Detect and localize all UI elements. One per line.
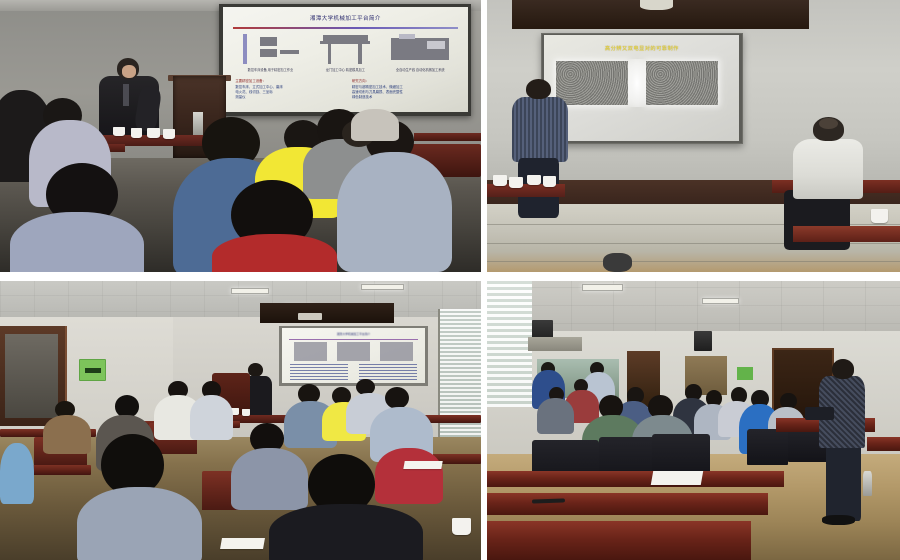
figure-caption-1: 数控车床设备 用于精密加工作业 (237, 69, 304, 77)
slide-figure-3 (389, 32, 452, 68)
photo-panel-bottom-right[interactable] (487, 281, 900, 560)
slide-title: 湘潭大学机械加工平台简介 (238, 11, 453, 25)
paper-cup (509, 177, 523, 188)
ceiling-projector (298, 313, 322, 320)
desk-row (414, 133, 481, 141)
ceiling-light (702, 298, 739, 304)
ceiling-light (231, 288, 269, 294)
slide-figure-captions: 数控车床设备 用于精密加工作业 龙门加工中心 精密模具加工 全自动生产线 自动化… (233, 69, 458, 77)
ceiling-light (361, 284, 404, 290)
presenter-face (122, 65, 136, 78)
photo-panel-bottom-left[interactable]: 湘潭大学机械加工平台简介 (0, 281, 481, 560)
presenter-lanyard (123, 84, 129, 106)
column-1-line-3: 测量仪 (235, 95, 338, 100)
ceiling-light (640, 0, 673, 10)
figure-caption-3: 全自动生产线 自动化机械加工系统 (387, 69, 454, 77)
exit-sign (737, 367, 754, 380)
conference-table (487, 471, 784, 488)
door-glass-panel (5, 334, 58, 418)
conference-table (487, 493, 768, 515)
micrograph-left (556, 61, 628, 105)
paper-cup (163, 129, 176, 139)
paper-cup (131, 128, 143, 137)
slide-text-columns (290, 364, 416, 380)
photo-panel-top-left[interactable]: 湘潭大学机械加工平台简介 (0, 0, 481, 272)
photo-panel-top-right[interactable]: 高分辨又双电显对的可靠制作 (487, 0, 900, 272)
standing-presenter-body (512, 97, 568, 162)
dark-soffit (260, 303, 395, 323)
audience-member (337, 152, 452, 272)
speaker-legs (826, 443, 861, 521)
slide-column-2: 研究方向： 精密与超精密加工技术、微细加工 高速切削与刀具磨损、表面完整性 绿色… (352, 79, 455, 108)
column-2-line-3: 绿色制造技术 (352, 95, 455, 100)
audience-member (43, 415, 91, 454)
audience-member (212, 234, 337, 272)
air-conditioner (528, 337, 582, 351)
speaker-shoes (822, 515, 855, 525)
side-table (867, 437, 900, 451)
ceiling-light (582, 284, 623, 291)
whiteboard-presentation-scene: 高分辨又双电显对的可靠制作 (487, 0, 900, 272)
wall-speaker (694, 331, 713, 351)
lecture-room-scene: 湘潭大学机械加工平台简介 (0, 0, 481, 272)
paper-cup (543, 176, 556, 187)
audience-member (269, 504, 423, 560)
paper-cup (242, 409, 250, 416)
notepad (403, 461, 443, 469)
photo-collage: 湘潭大学机械加工平台简介 (0, 0, 900, 560)
window (487, 281, 532, 407)
projection-screen: 湘潭大学机械加工平台简介 (282, 328, 425, 384)
thermos-flask (863, 471, 872, 496)
slide-figure-1 (239, 32, 302, 68)
pen (532, 498, 565, 503)
paper-cup (113, 127, 125, 136)
classroom-rear-view-scene: 湘潭大学机械加工平台简介 (0, 281, 481, 560)
audience-member (0, 443, 34, 504)
audience-member (190, 395, 233, 440)
paper-cup (493, 175, 507, 186)
audience-head (385, 387, 409, 409)
projector-glare (628, 59, 646, 108)
projection-screen: 湘潭大学机械加工平台简介 (223, 7, 467, 112)
slide-figures (289, 342, 418, 361)
paper-cup (527, 175, 541, 186)
standing-presenter-head (526, 79, 551, 99)
paper-sheet (651, 471, 703, 485)
exit-sign (79, 359, 105, 381)
audience-member (77, 487, 202, 560)
conference-table (487, 521, 751, 560)
audience-member (351, 109, 399, 142)
slide-divider (233, 27, 458, 29)
notepad (220, 538, 265, 549)
slide-title: 高分辨又双电显对的可靠制作 (560, 43, 724, 55)
speaker-head (832, 359, 854, 379)
figure-caption-2: 龙门加工中心 精密模具加工 (312, 69, 379, 77)
micrograph-right (646, 61, 718, 105)
slide-title: 湘潭大学机械加工平台简介 (302, 331, 405, 338)
paper-cup (871, 209, 888, 223)
conference-room-scene (487, 281, 900, 560)
chair (747, 429, 788, 465)
paper-cup (147, 128, 160, 138)
audience-member (10, 212, 145, 272)
slide-divider (289, 339, 418, 340)
audience-member (231, 448, 308, 509)
slide-column-1: 主要精密加工设备： 数控车床、立式加工中心、磨床 电火花、线切割、三坐标 测量仪 (235, 79, 338, 108)
seated-man-body (793, 139, 863, 199)
slide-figures (233, 32, 458, 68)
slide-text-columns: 主要精密加工设备： 数控车床、立式加工中心、磨床 电火花、线切割、三坐标 测量仪… (235, 79, 455, 108)
audience-member (375, 448, 442, 504)
thermos-flask (603, 253, 632, 272)
audience-member (537, 398, 574, 434)
desk-front-right (793, 226, 900, 242)
paper-cup (452, 518, 471, 535)
speaker-folder (805, 407, 834, 421)
slide-figure-2 (314, 32, 377, 68)
whiteboard-screen: 高分辨又双电显对的可靠制作 (544, 35, 739, 141)
